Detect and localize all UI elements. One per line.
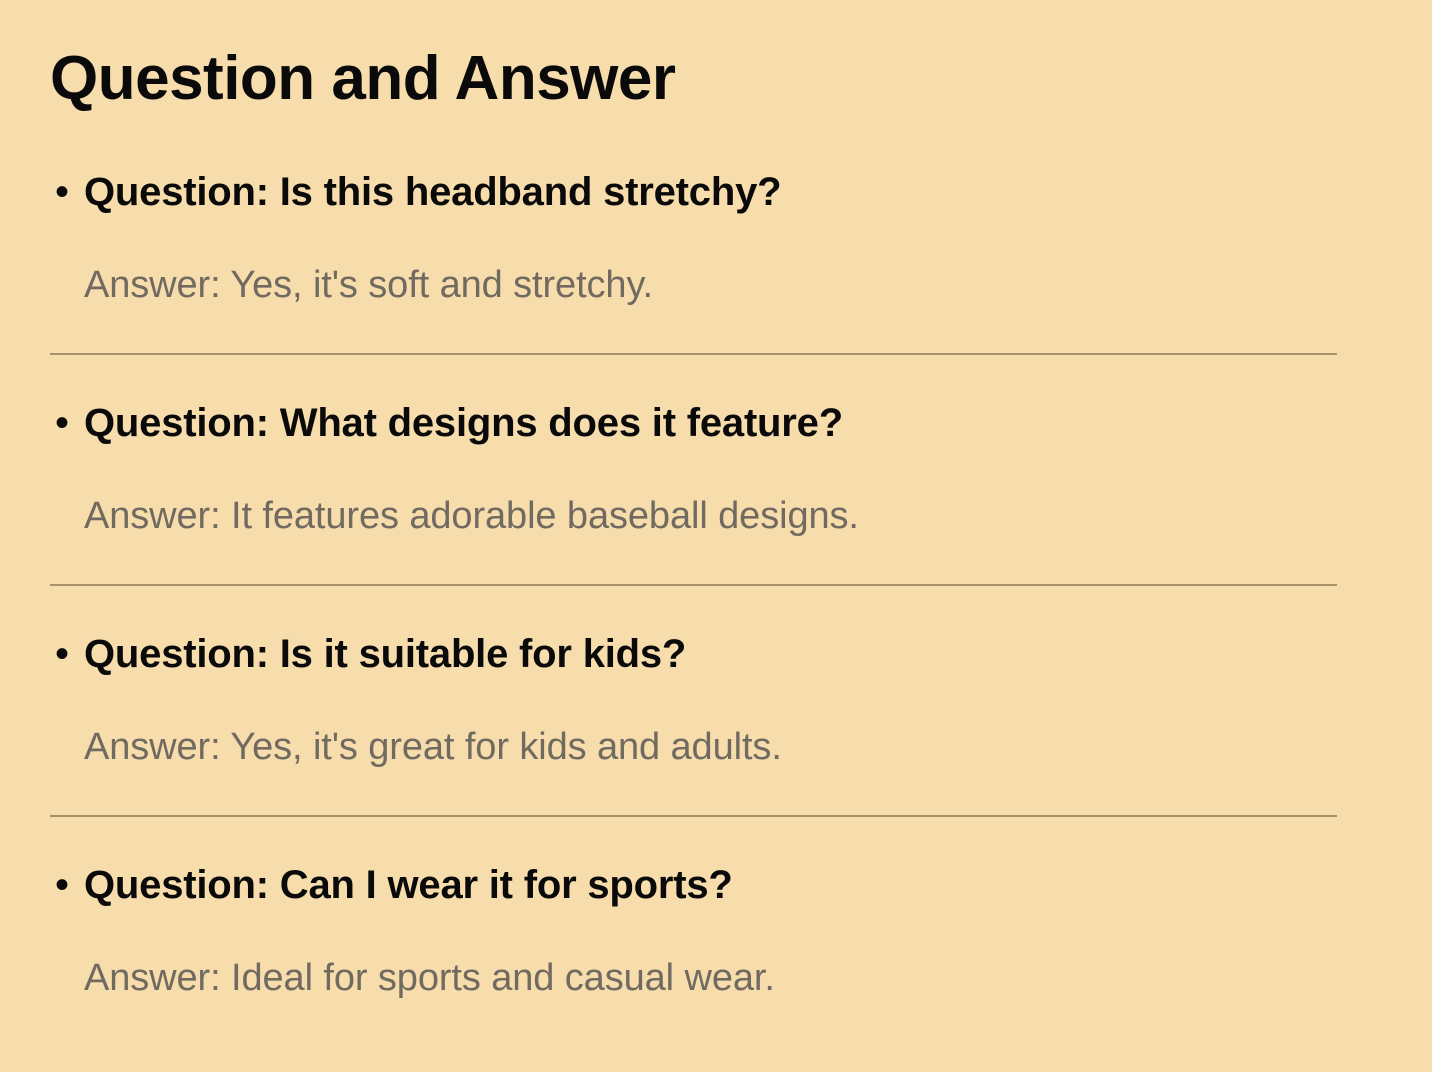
qa-answer-text: Answer: It features adorable baseball de… xyxy=(84,491,1384,541)
qa-question-row: • Question: Is it suitable for kids? xyxy=(54,628,1384,680)
list-item: • Question: What designs does it feature… xyxy=(50,397,1384,586)
qa-separator xyxy=(50,584,1337,586)
qa-answer-text: Answer: Yes, it's great for kids and adu… xyxy=(84,722,1384,772)
qa-question-text: Question: Is this headband stretchy? xyxy=(84,166,781,218)
qa-question-text: Question: What designs does it feature? xyxy=(84,397,843,449)
page-title: Question and Answer xyxy=(50,48,1384,110)
list-item: • Question: Is this headband stretchy? A… xyxy=(50,166,1384,355)
qa-separator xyxy=(50,353,1337,355)
list-item: • Question: Is it suitable for kids? Ans… xyxy=(50,628,1384,817)
qa-answer-text: Answer: Yes, it's soft and stretchy. xyxy=(84,260,1384,310)
qa-list: • Question: Is this headband stretchy? A… xyxy=(50,166,1384,1003)
bullet-icon: • xyxy=(54,859,84,911)
bullet-icon: • xyxy=(54,628,84,680)
question-answer-page: Question and Answer • Question: Is this … xyxy=(0,0,1432,1072)
list-item: • Question: Can I wear it for sports? An… xyxy=(50,859,1384,1003)
qa-separator xyxy=(50,815,1337,817)
qa-question-text: Question: Can I wear it for sports? xyxy=(84,859,733,911)
bullet-icon: • xyxy=(54,166,84,218)
qa-question-row: • Question: What designs does it feature… xyxy=(54,397,1384,449)
qa-question-row: • Question: Can I wear it for sports? xyxy=(54,859,1384,911)
qa-question-row: • Question: Is this headband stretchy? xyxy=(54,166,1384,218)
qa-answer-text: Answer: Ideal for sports and casual wear… xyxy=(84,953,1384,1003)
qa-question-text: Question: Is it suitable for kids? xyxy=(84,628,686,680)
bullet-icon: • xyxy=(54,397,84,449)
